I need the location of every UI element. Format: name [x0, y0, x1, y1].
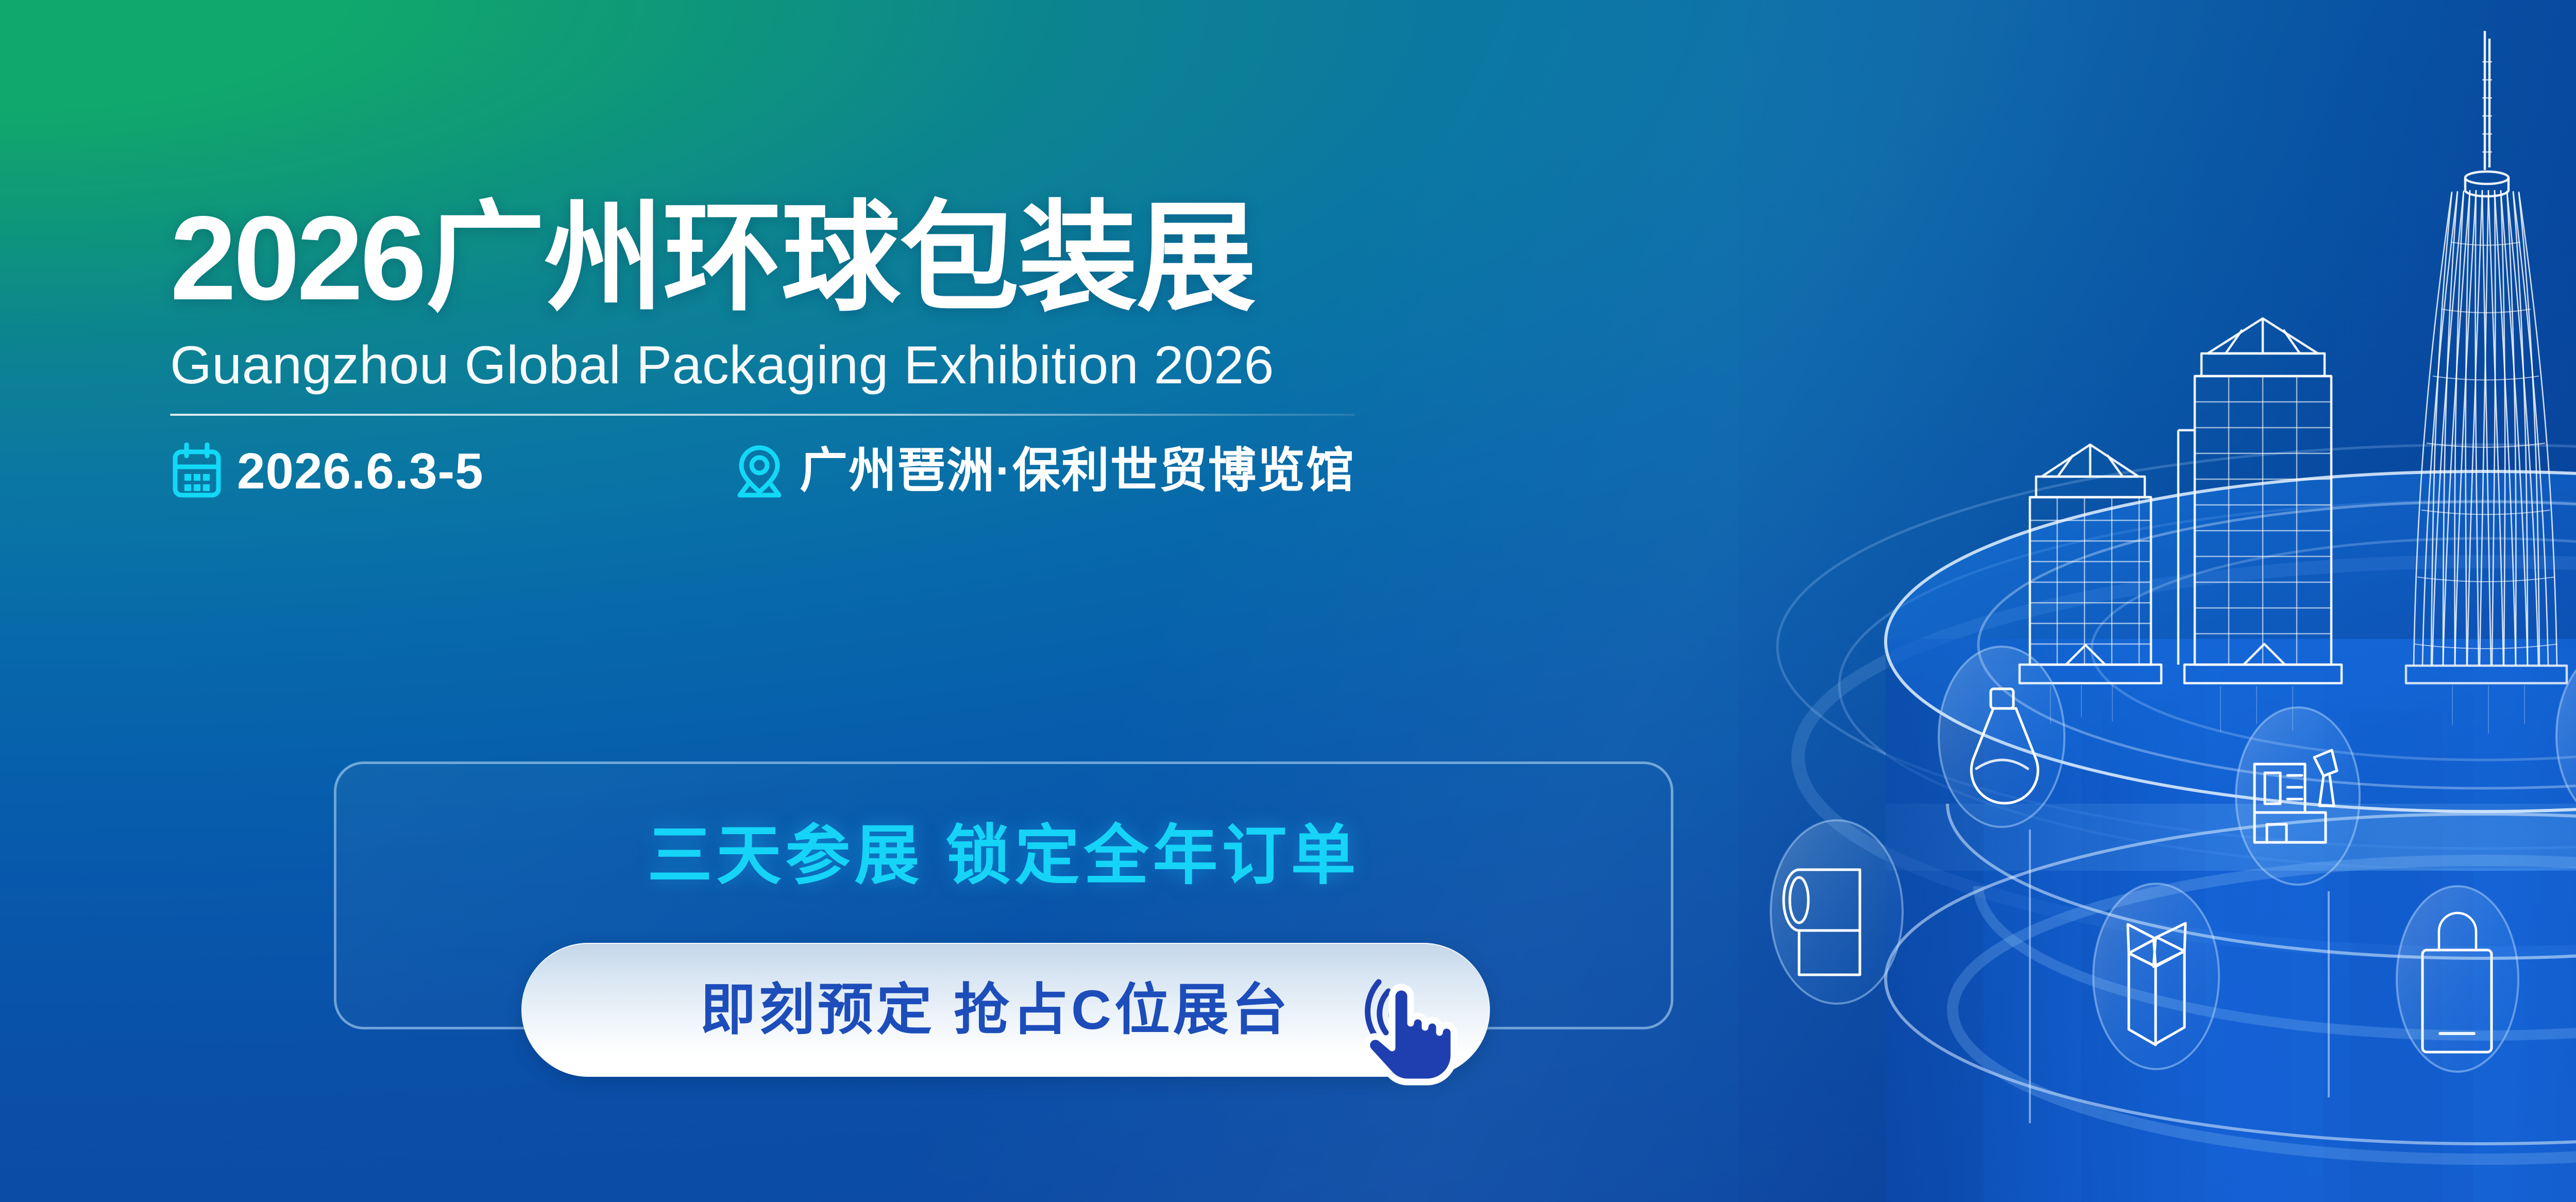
slogan-text: 三天参展 锁定全年订单 [336, 803, 1671, 897]
hand-tap-icon [1338, 948, 1493, 1103]
event-meta-row: 2026.6.3-5 广州琶洲·保利世贸博览馆 [170, 443, 1355, 499]
banner-text-block: 2026广州环球包装展 Guangzhou Global Packaging E… [170, 196, 1767, 499]
event-date: 2026.6.3-5 [170, 443, 733, 499]
city-skyline-illustration [1741, 0, 2576, 1202]
title-year: 2026 [170, 192, 423, 325]
book-booth-cta-button[interactable]: 即刻预定 抢占C位展台 [521, 943, 1490, 1077]
map-pin-icon [733, 443, 786, 499]
calendar-icon [170, 443, 224, 499]
title-divider [170, 414, 1355, 416]
event-venue-text: 广州琶洲·保利世贸博览馆 [800, 447, 1355, 495]
title-english: Guangzhou Global Packaging Exhibition 20… [170, 335, 1767, 396]
page-title: 2026广州环球包装展 [170, 196, 1767, 321]
background-right-shade [1739, 0, 2576, 1202]
cta-label: 即刻预定 抢占C位展台 [700, 982, 1291, 1038]
event-venue: 广州琶洲·保利世贸博览馆 [733, 443, 1355, 499]
exhibition-banner: 2026广州环球包装展 Guangzhou Global Packaging E… [0, 0, 2576, 1202]
event-date-text: 2026.6.3-5 [237, 446, 484, 496]
title-name-cn: 广州环球包装展 [426, 192, 1255, 325]
